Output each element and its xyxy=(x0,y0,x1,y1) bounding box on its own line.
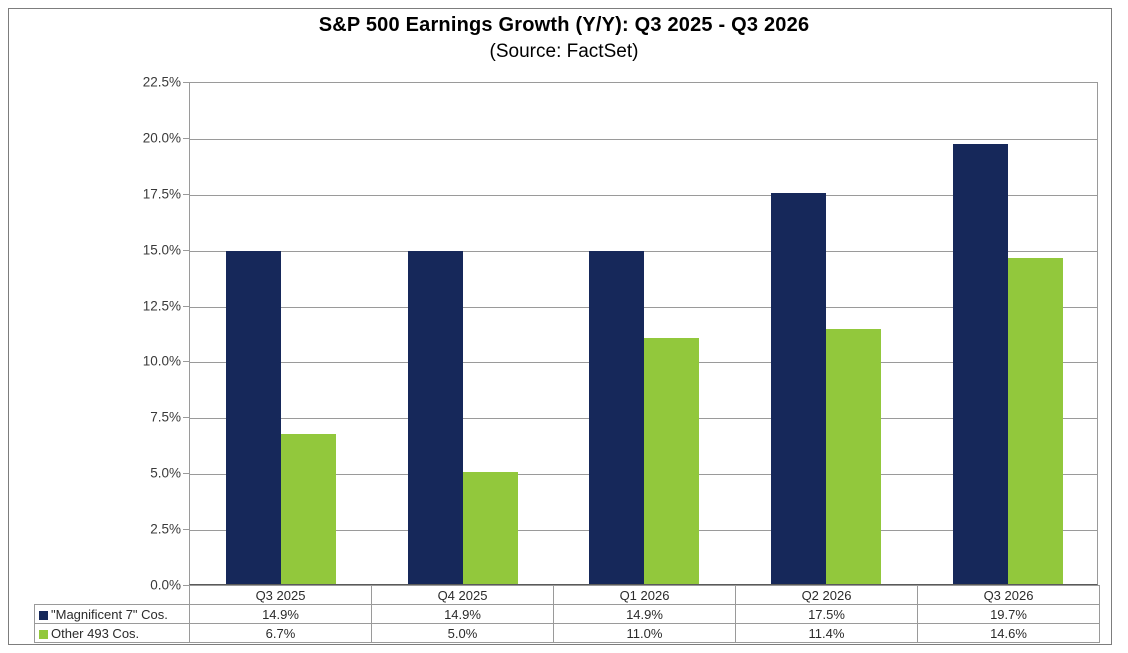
bar xyxy=(771,193,826,584)
category-divider xyxy=(917,83,918,584)
y-axis-tick-label: 12.5% xyxy=(111,298,181,313)
legend-item-other493[interactable]: Other 493 Cos. xyxy=(35,624,190,643)
category-header-cell: Q1 2026 xyxy=(554,586,736,605)
y-axis-tick-label: 7.5% xyxy=(111,410,181,425)
chart-figure: S&P 500 Earnings Growth (Y/Y): Q3 2025 -… xyxy=(0,0,1128,653)
data-cell: 19.7% xyxy=(918,605,1100,624)
bar-group xyxy=(554,83,736,584)
data-cell: 14.9% xyxy=(554,605,736,624)
data-cell: 14.9% xyxy=(372,605,554,624)
legend-label: Other 493 Cos. xyxy=(51,626,139,641)
bar xyxy=(826,329,881,584)
y-axis-tick-label: 20.0% xyxy=(111,130,181,145)
legend-swatch-icon xyxy=(39,611,48,620)
bar xyxy=(463,472,518,584)
bar xyxy=(953,144,1008,584)
table-row: Other 493 Cos.6.7%5.0%11.0%11.4%14.6% xyxy=(35,624,1100,643)
bar xyxy=(408,251,463,584)
y-axis-tick-label: 22.5% xyxy=(111,75,181,90)
legend-label: "Magnificent 7" Cos. xyxy=(51,607,168,622)
bar-group xyxy=(190,83,372,584)
bar-group xyxy=(917,83,1099,584)
y-axis-tick-label: 15.0% xyxy=(111,242,181,257)
bar xyxy=(644,338,699,584)
bar xyxy=(281,434,336,584)
category-header-cell: Q4 2025 xyxy=(372,586,554,605)
category-header-cell: Q3 2026 xyxy=(918,586,1100,605)
legend-swatch-icon xyxy=(39,630,48,639)
table-row: "Magnificent 7" Cos.14.9%14.9%14.9%17.5%… xyxy=(35,605,1100,624)
bar xyxy=(589,251,644,584)
chart-subtitle: (Source: FactSet) xyxy=(0,41,1128,63)
category-divider xyxy=(372,83,373,584)
data-cell: 6.7% xyxy=(190,624,372,643)
y-axis-tick-label: 5.0% xyxy=(111,466,181,481)
data-cell: 11.0% xyxy=(554,624,736,643)
bar xyxy=(226,251,281,584)
chart-title: S&P 500 Earnings Growth (Y/Y): Q3 2025 -… xyxy=(0,14,1128,37)
data-table: Q3 2025Q4 2025Q1 2026Q2 2026Q3 2026"Magn… xyxy=(34,585,1100,643)
data-cell: 14.9% xyxy=(190,605,372,624)
data-cell: 17.5% xyxy=(736,605,918,624)
category-divider xyxy=(735,83,736,584)
data-cell: 5.0% xyxy=(372,624,554,643)
bar-group xyxy=(372,83,554,584)
y-axis-tick-label: 17.5% xyxy=(111,186,181,201)
plot-area xyxy=(189,82,1098,585)
category-divider xyxy=(554,83,555,584)
y-axis-tick-label: 10.0% xyxy=(111,354,181,369)
bar-group xyxy=(735,83,917,584)
bar xyxy=(1008,258,1063,584)
category-header-cell: Q3 2025 xyxy=(190,586,372,605)
table-corner-cell xyxy=(35,586,190,605)
legend-item-magnificent7[interactable]: "Magnificent 7" Cos. xyxy=(35,605,190,624)
data-cell: 14.6% xyxy=(918,624,1100,643)
data-cell: 11.4% xyxy=(736,624,918,643)
table-header-row: Q3 2025Q4 2025Q1 2026Q2 2026Q3 2026 xyxy=(35,586,1100,605)
y-axis-tick-label: 2.5% xyxy=(111,522,181,537)
category-header-cell: Q2 2026 xyxy=(736,586,918,605)
